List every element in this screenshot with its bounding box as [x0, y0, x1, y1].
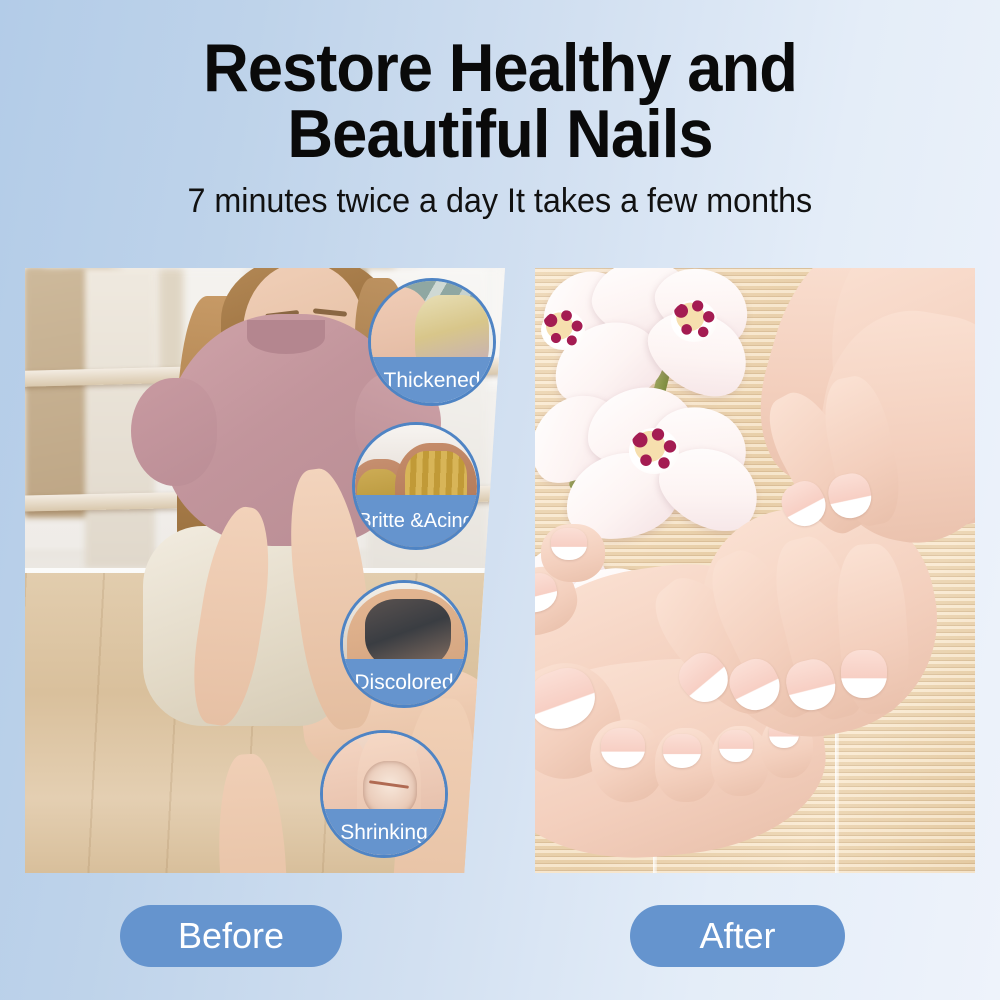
toenail — [719, 730, 753, 762]
callout-brittle[interactable]: Britte & Acing — [352, 422, 480, 550]
subtitle: 7 minutes twice a day It takes a few mon… — [188, 182, 813, 221]
after-button[interactable]: After — [630, 905, 845, 967]
after-photo — [535, 268, 975, 873]
header: Restore Healthy and Beautiful Nails 7 mi… — [0, 0, 1000, 250]
callout-label-discolored: Discolored — [343, 659, 465, 705]
toenail — [663, 734, 701, 768]
callout-label-line-1: Britte & — [358, 511, 424, 531]
shirt-neckline — [247, 320, 325, 354]
headline-line-1: Restore Healthy and — [203, 30, 797, 106]
callout-label-thickened: Thickened — [371, 357, 493, 403]
before-button[interactable]: Before — [120, 905, 342, 967]
toenail — [551, 528, 587, 560]
callout-discolored[interactable]: Discolored — [340, 580, 468, 708]
toenail — [601, 728, 645, 768]
fingernail — [841, 650, 887, 698]
callout-label-line-2: Acing — [424, 511, 474, 531]
callout-thickened[interactable]: Thickened — [368, 278, 496, 406]
headline-line-2: Beautiful Nails — [82, 102, 919, 168]
callout-label-shrinking: Shrinking — [323, 809, 445, 855]
callout-label-brittle: Britte & Acing — [355, 495, 477, 547]
tshirt-sleeve — [131, 378, 217, 486]
page-title: Restore Healthy and Beautiful Nails — [82, 36, 919, 168]
callout-shrinking[interactable]: Shrinking — [320, 730, 448, 858]
